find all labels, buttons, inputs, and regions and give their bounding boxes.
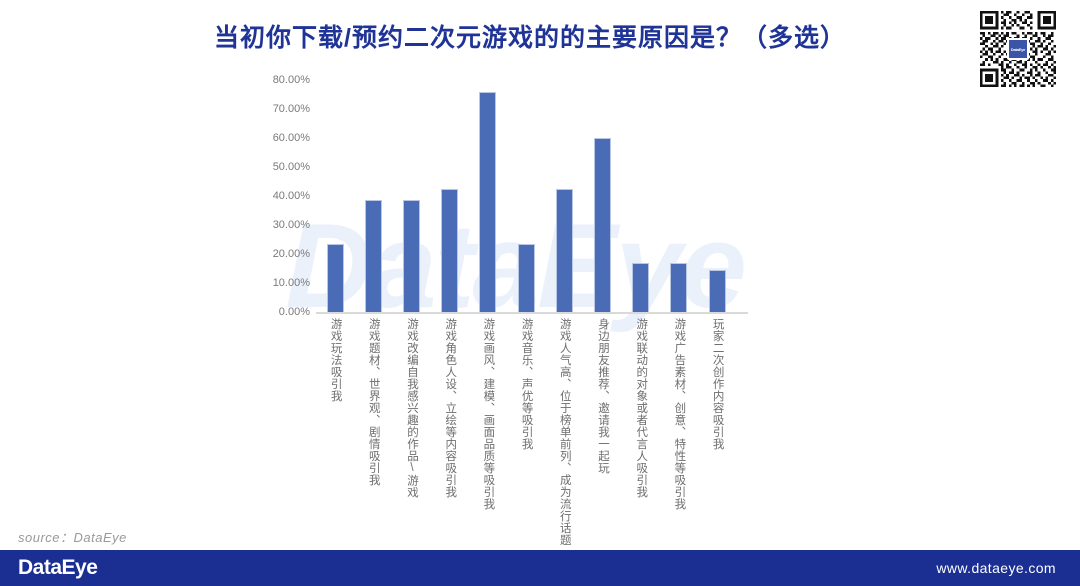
bar[interactable] <box>594 138 611 312</box>
x-axis-tick-label: 游戏人气高、位于榜单前列、成为流行话题 <box>556 318 573 546</box>
source-note: source：DataEye <box>18 527 127 546</box>
bar[interactable] <box>479 92 496 312</box>
x-axis-line <box>316 312 748 314</box>
x-axis-tick-label: 身边朋友推荐、邀请我一起玩 <box>594 318 611 474</box>
x-axis-tick-label: 游戏广告素材、创意、特性等吸引我 <box>670 318 687 510</box>
bar[interactable] <box>632 263 649 312</box>
y-axis-tick-label: 70.00% <box>246 103 310 115</box>
bar[interactable] <box>556 189 573 312</box>
x-axis-tick-label: 游戏题材、世界观、剧情吸引我 <box>365 318 382 486</box>
y-axis-tick-label: 40.00% <box>246 190 310 202</box>
bar[interactable] <box>518 244 535 312</box>
y-axis-tick-label: 20.00% <box>246 248 310 260</box>
x-axis-tick-label: 游戏音乐、声优等吸引我 <box>518 318 535 450</box>
y-axis-tick-label: 50.00% <box>246 161 310 173</box>
bar[interactable] <box>441 189 458 312</box>
bar[interactable] <box>709 270 726 312</box>
x-axis-tick-label: 游戏玩法吸引我 <box>327 318 344 402</box>
y-axis-tick-label: 10.00% <box>246 277 310 289</box>
x-axis-tick-label: 游戏联动的对象或者代言人吸引我 <box>632 318 649 498</box>
x-axis-tick-label: 游戏角色人设、立绘等内容吸引我 <box>441 318 458 498</box>
y-axis-tick-label: 30.00% <box>246 219 310 231</box>
footer-bar: DataEye www.dataeye.com <box>0 550 1080 586</box>
bar[interactable] <box>403 200 420 312</box>
y-axis: 0.00%10.00%20.00%30.00%40.00%50.00%60.00… <box>244 0 310 586</box>
plot-area <box>316 80 736 312</box>
x-axis-tick-label: 游戏改编自我感兴趣的作品\游戏 <box>403 318 420 499</box>
bar[interactable] <box>670 263 687 312</box>
y-axis-tick-label: 80.00% <box>246 74 310 86</box>
x-axis-labels: 游戏玩法吸引我游戏题材、世界观、剧情吸引我游戏改编自我感兴趣的作品\游戏游戏角色… <box>316 318 756 548</box>
qr-center-logo: DataEye <box>1007 38 1029 60</box>
dataeye-logo: DataEye <box>18 556 97 580</box>
x-axis-tick-label: 游戏画风、建模、画面品质等吸引我 <box>479 318 496 510</box>
website-url: www.dataeye.com <box>936 560 1056 576</box>
page-title: 当初你下载/预约二次元游戏的的主要原因是？（多选） <box>120 18 940 54</box>
x-axis-tick-label: 玩家二次创作内容吸引我 <box>709 318 726 450</box>
y-axis-tick-label: 0.00% <box>246 306 310 318</box>
bar[interactable] <box>327 244 344 312</box>
bar-chart: 0.00%10.00%20.00%30.00%40.00%50.00%60.00… <box>0 0 1080 586</box>
chart-page: DataEye 当初你下载/预约二次元游戏的的主要原因是？（多选） <box>0 0 1080 586</box>
bar[interactable] <box>365 200 382 312</box>
qr-code[interactable]: DataEye <box>980 11 1056 87</box>
y-axis-tick-label: 60.00% <box>246 132 310 144</box>
